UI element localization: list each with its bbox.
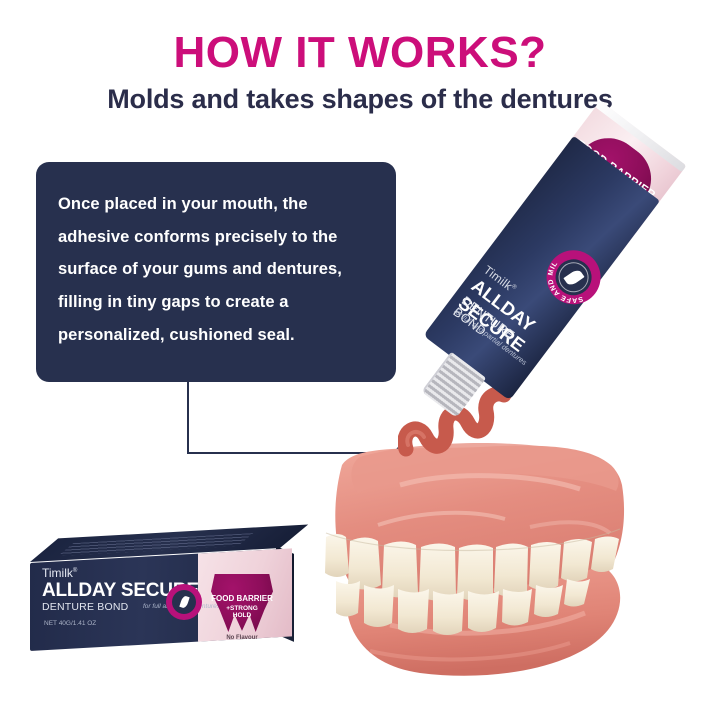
leaf-icon: [179, 595, 189, 609]
carton-net-weight: NET 40G/1.41 OZ: [44, 620, 96, 627]
poster-canvas: HOW IT WORKS? Molds and takes shapes of …: [0, 0, 720, 720]
carton-safe-badge: [166, 584, 202, 620]
callout-text: Once placed in your mouth, the adhesive …: [58, 188, 372, 351]
carton-brand-mark: ®: [73, 568, 77, 574]
page-title: HOW IT WORKS?: [0, 30, 720, 76]
carton-brand-text: Timilk: [42, 566, 73, 580]
carton-flavour-label: No Flavour: [210, 635, 274, 641]
carton-brand: Timilk®: [42, 566, 77, 580]
product-carton: Timilk® ALLDAY SECURE DENTURE BOND for f…: [18, 538, 303, 653]
adhesive-tube: FOOD BARRIER +STRONG HOLD No Flavour SAF…: [432, 100, 720, 430]
carton-food-barrier-label: FOOD BARRIER: [210, 594, 274, 603]
carton-product-subtitle: DENTURE BOND: [42, 601, 128, 613]
carton-badge-core: [172, 590, 196, 614]
connector-line-vertical: [187, 382, 189, 453]
carton-strong-hold-label: +STRONG HOLD: [218, 606, 266, 620]
info-callout-box: Once placed in your mouth, the adhesive …: [36, 162, 396, 382]
